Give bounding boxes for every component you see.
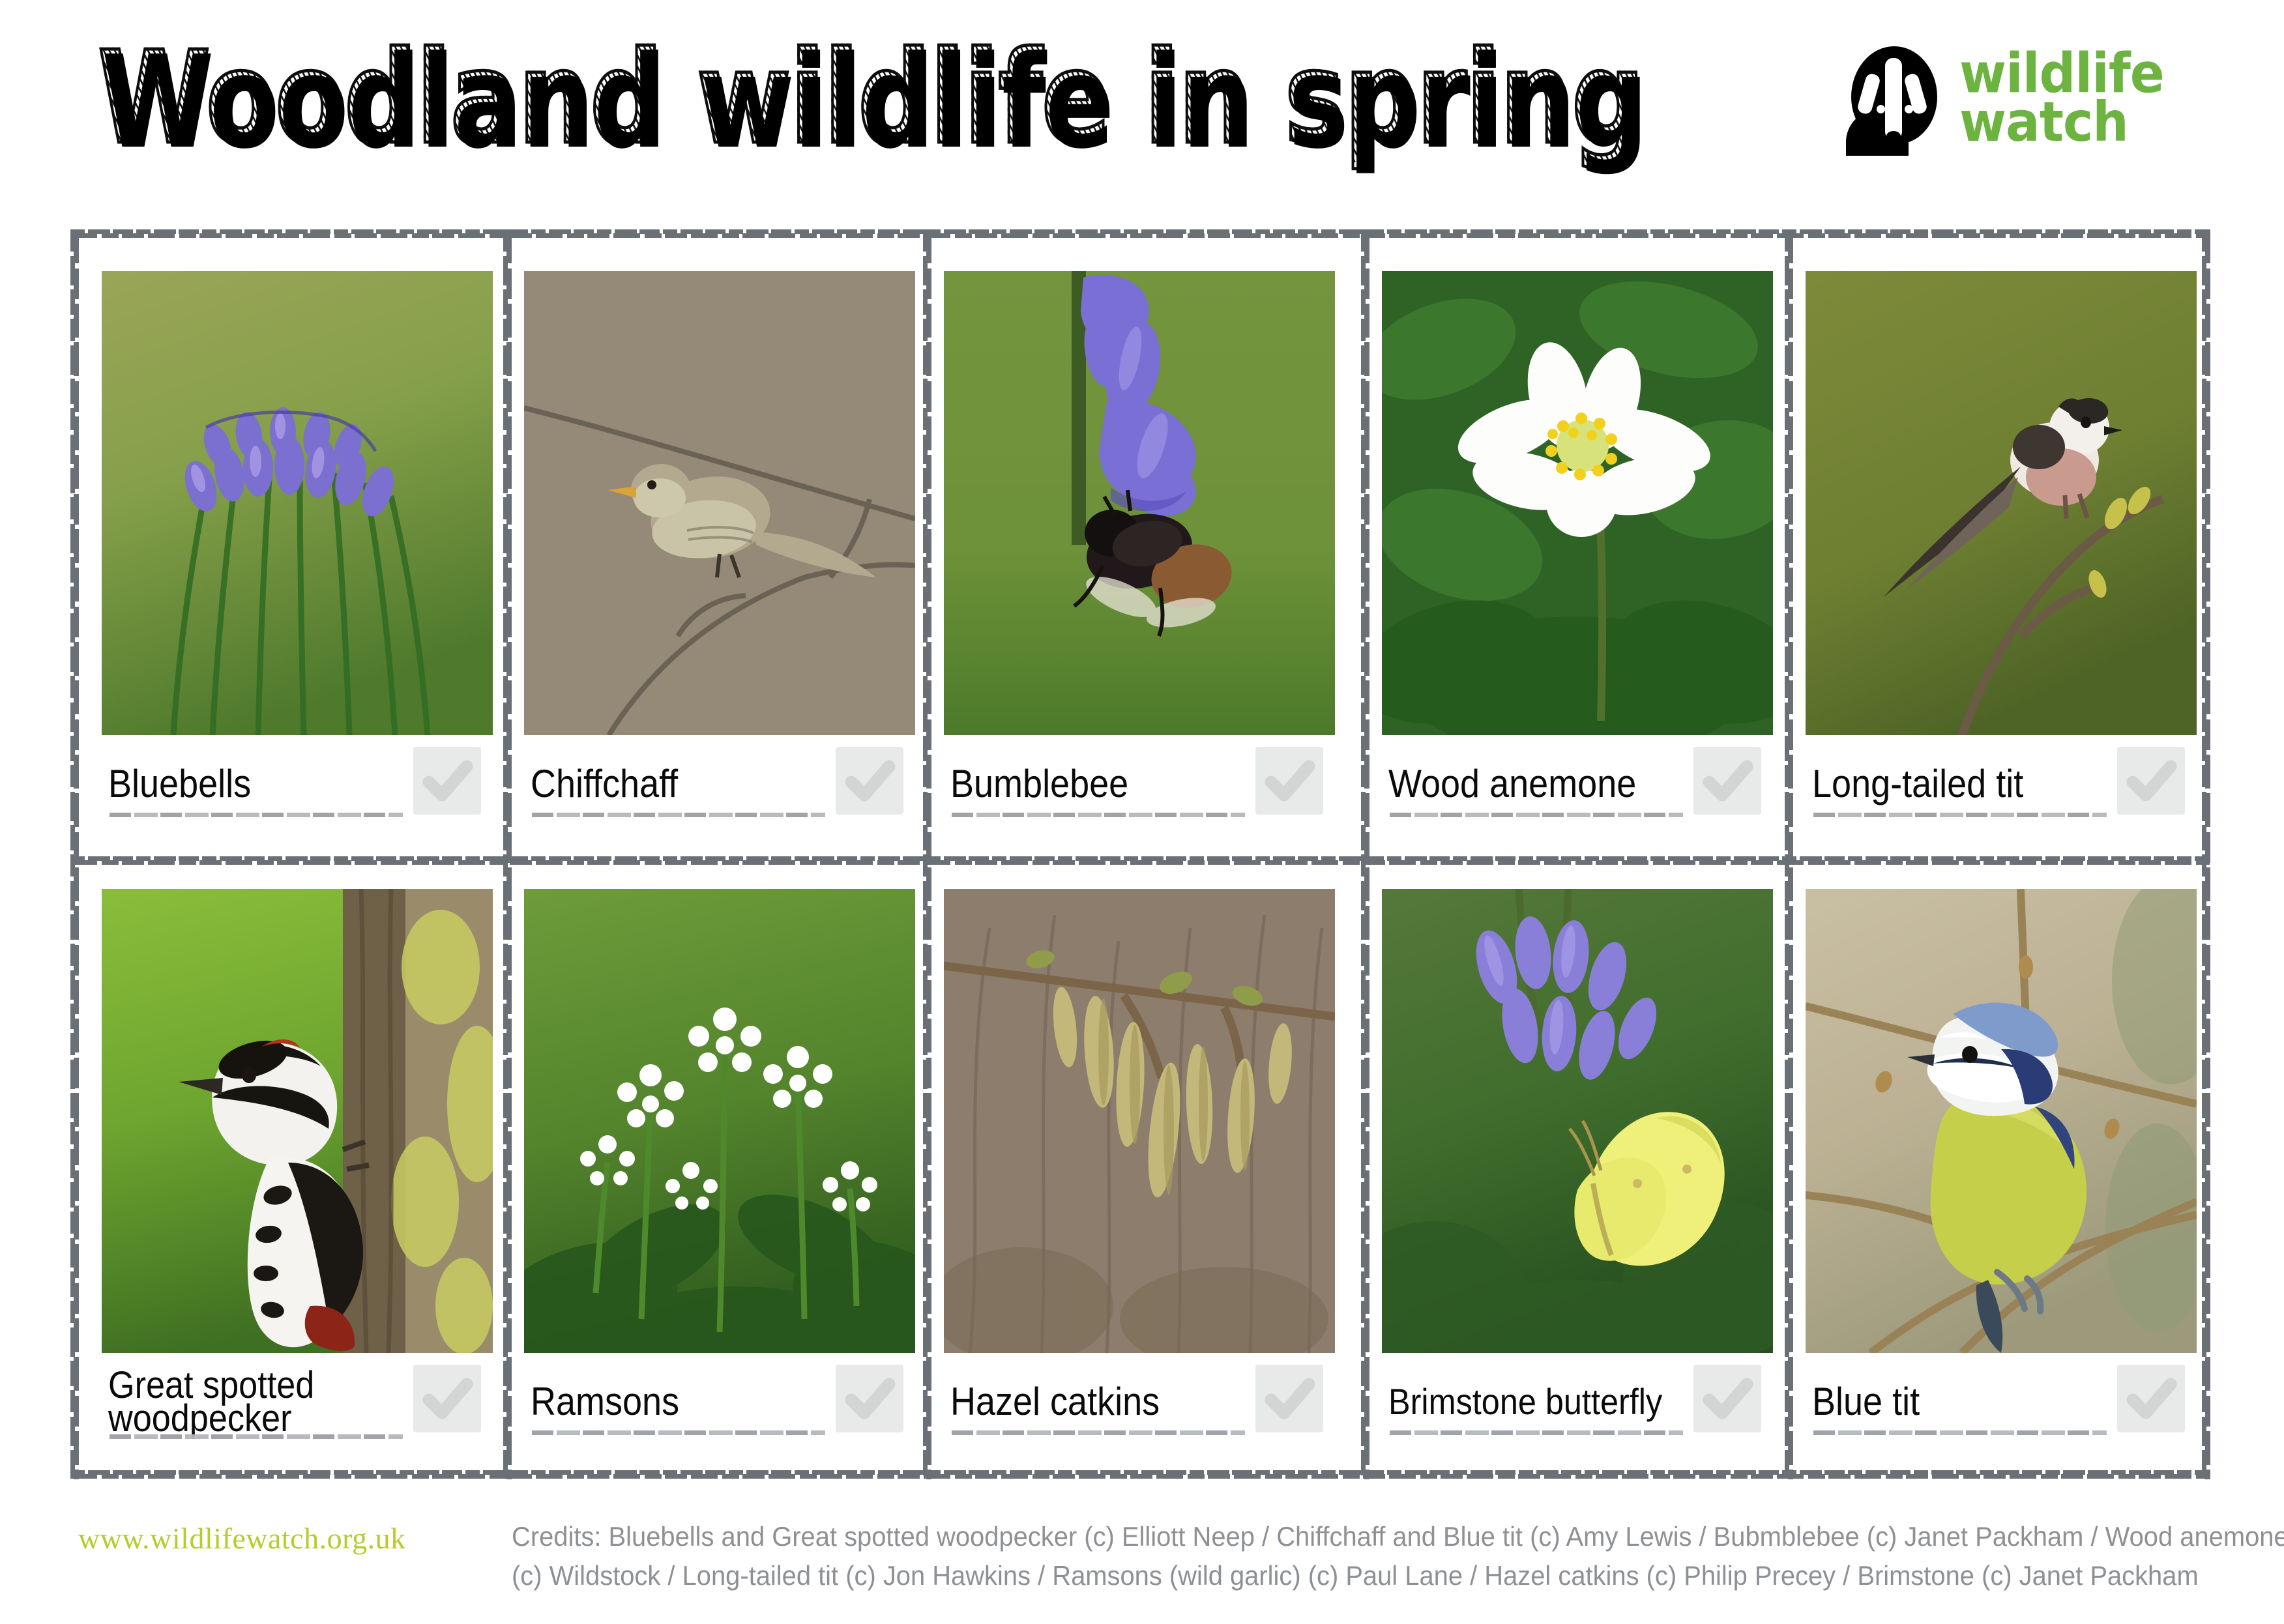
grid-divider-4 — [1785, 229, 1793, 1479]
bumblebee-illustration — [944, 271, 1335, 735]
grid-border-right — [2202, 229, 2210, 1479]
caption-rule — [952, 1430, 1245, 1435]
list-item-label: Bluebells — [108, 766, 251, 802]
blue-tit-illustration — [1806, 889, 2197, 1353]
list-item[interactable]: Blue tit — [1806, 889, 2197, 1451]
list-item[interactable]: Wood anemone — [1382, 271, 1773, 833]
logo-word-bottom: watch — [1959, 98, 2164, 147]
caption-chiffchaff: Chiffchaff — [524, 735, 915, 833]
chiffchaff-illustration — [524, 271, 915, 735]
photo-great-spotted-woodpecker — [102, 889, 493, 1353]
credits-line-1: Credits: Bluebells and Great spotted woo… — [512, 1517, 2171, 1556]
wood-anemone-illustration — [1382, 271, 1773, 735]
caption-bumblebee: Bumblebee — [944, 735, 1335, 833]
checkbox-brimstone-butterfly[interactable] — [1693, 1365, 1761, 1432]
wildlife-checklist-grid: Bluebells — [70, 229, 2210, 1479]
ramsons-illustration — [524, 889, 915, 1353]
photo-bluebells — [102, 271, 493, 735]
checkbox-blue-tit[interactable] — [2117, 1365, 2185, 1432]
list-item-label: Blue tit — [1812, 1384, 1920, 1420]
great-spotted-woodpecker-illustration — [102, 889, 493, 1353]
caption-rule — [1390, 813, 1683, 817]
grid-border-bottom — [70, 1470, 2210, 1479]
grid-border-left — [70, 229, 79, 1479]
list-item-label: Chiffchaff — [531, 766, 678, 802]
photo-long-tailed-tit — [1806, 271, 2197, 735]
grid-divider-2 — [923, 229, 931, 1479]
photo-chiffchaff — [524, 271, 915, 735]
list-item-label: Great spotted woodpecker — [108, 1369, 384, 1435]
list-item-label: Bumblebee — [950, 766, 1128, 802]
caption-wood-anemone: Wood anemone — [1382, 735, 1773, 833]
caption-rule — [532, 813, 825, 817]
list-item[interactable]: Chiffchaff — [524, 271, 915, 833]
hazel-catkins-illustration — [944, 889, 1335, 1353]
checkbox-great-spotted-woodpecker[interactable] — [413, 1365, 481, 1432]
photo-hazel-catkins — [944, 889, 1335, 1353]
caption-rule — [1813, 813, 2107, 817]
caption-long-tailed-tit: Long-tailed tit — [1806, 735, 2197, 833]
website-url-link[interactable]: www.wildlifewatch.org.uk — [78, 1521, 406, 1556]
photo-credits: Credits: Bluebells and Great spotted woo… — [512, 1517, 2171, 1595]
caption-rule — [1813, 1430, 2107, 1435]
grid-divider-1 — [503, 229, 512, 1479]
caption-ramsons: Ramsons — [524, 1353, 915, 1451]
list-item[interactable]: Bluebells — [102, 271, 493, 833]
credits-line-2: (c) Wildstock / Long-tailed tit (c) Jon … — [512, 1556, 2171, 1595]
checkbox-ramsons[interactable] — [836, 1365, 903, 1432]
page-title-text: Woodland wildlife in spring — [98, 35, 1644, 162]
poster-page: Woodland wildlife in spring wildlife wat… — [0, 0, 2284, 1624]
list-item[interactable]: Hazel catkins — [944, 889, 1335, 1451]
checkbox-wood-anemone[interactable] — [1693, 747, 1761, 815]
checkbox-hazel-catkins[interactable] — [1255, 1365, 1323, 1432]
list-item-label: Wood anemone — [1388, 766, 1636, 802]
caption-hazel-catkins: Hazel catkins — [944, 1353, 1335, 1451]
photo-blue-tit — [1806, 889, 2197, 1353]
grid-divider-3 — [1361, 229, 1369, 1479]
caption-rule — [1390, 1430, 1683, 1435]
caption-rule — [110, 813, 403, 817]
poster-header: Woodland wildlife in spring wildlife wat… — [0, 0, 2284, 209]
brimstone-butterfly-illustration — [1382, 889, 1773, 1353]
caption-rule — [532, 1430, 825, 1435]
list-item[interactable]: Brimstone butterfly — [1382, 889, 1773, 1451]
logo-wordmark: wildlife watch — [1959, 50, 2164, 147]
photo-ramsons — [524, 889, 915, 1353]
list-item[interactable]: Ramsons — [524, 889, 915, 1451]
bluebells-illustration — [102, 271, 493, 735]
page-title: Woodland wildlife in spring — [98, 23, 1845, 173]
list-item-label: Ramsons — [531, 1384, 679, 1420]
photo-brimstone-butterfly — [1382, 889, 1773, 1353]
caption-rule — [110, 1434, 403, 1439]
list-item[interactable]: Bumblebee — [944, 271, 1335, 833]
grid-border-middle — [70, 856, 2210, 865]
list-item-label: Hazel catkins — [950, 1384, 1160, 1420]
long-tailed-tit-illustration — [1806, 271, 2197, 735]
badger-head-icon — [1846, 42, 1942, 154]
caption-blue-tit: Blue tit — [1806, 1353, 2197, 1451]
checkbox-bluebells[interactable] — [413, 747, 481, 815]
caption-rule — [952, 813, 1245, 817]
poster-footer: www.wildlifewatch.org.uk Credits: Bluebe… — [0, 1505, 2284, 1624]
list-item[interactable]: Great spotted woodpecker — [102, 889, 493, 1451]
checkbox-chiffchaff[interactable] — [836, 747, 903, 815]
list-item[interactable]: Long-tailed tit — [1806, 271, 2197, 833]
photo-wood-anemone — [1382, 271, 1773, 735]
caption-brimstone-butterfly: Brimstone butterfly — [1382, 1353, 1773, 1451]
grid-border-top — [70, 229, 2210, 239]
photo-bumblebee — [944, 271, 1335, 735]
list-item-label: Brimstone butterfly — [1388, 1385, 1662, 1419]
checkbox-long-tailed-tit[interactable] — [2117, 747, 2185, 815]
checkbox-bumblebee[interactable] — [1255, 747, 1323, 815]
caption-great-spotted-woodpecker: Great spotted woodpecker — [102, 1353, 493, 1451]
list-item-label: Long-tailed tit — [1812, 766, 2023, 802]
caption-bluebells: Bluebells — [102, 735, 493, 833]
wildlife-watch-logo: wildlife watch — [1846, 36, 2250, 160]
